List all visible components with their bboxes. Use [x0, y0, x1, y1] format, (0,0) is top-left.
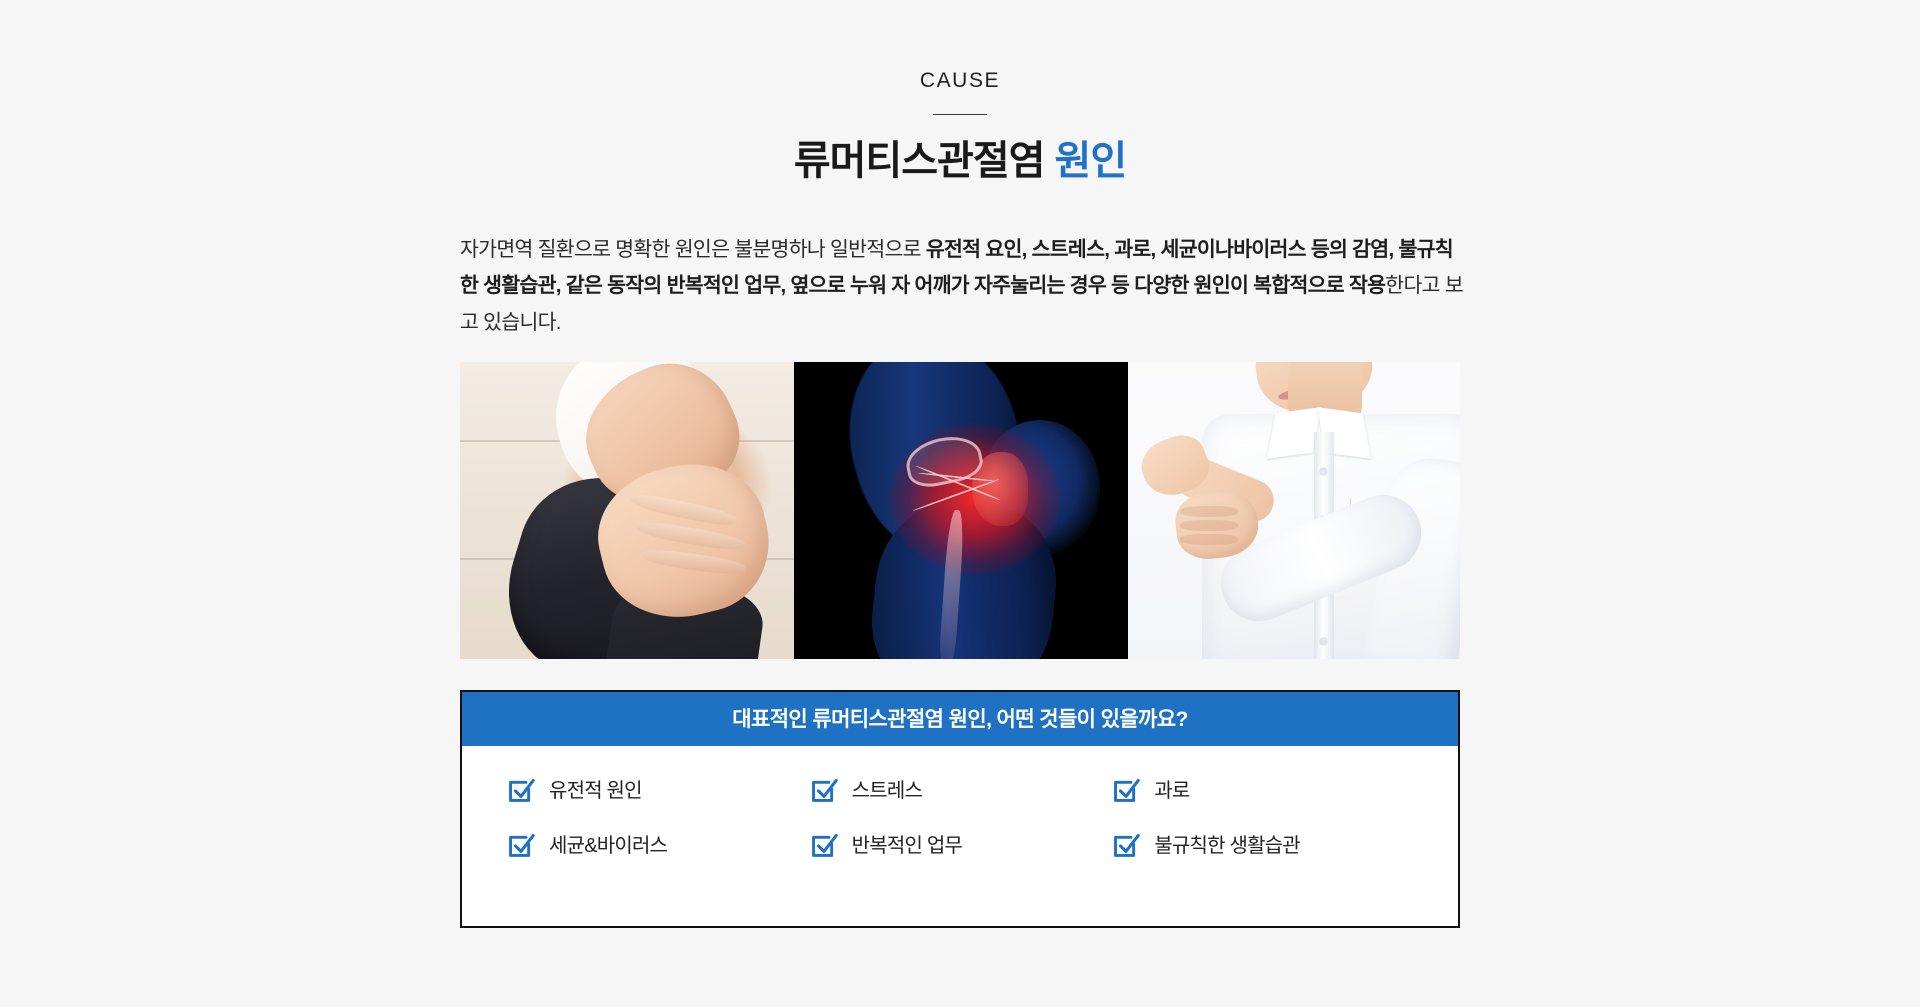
photo-knee-hands	[460, 362, 794, 659]
lead-line1-plain: 자가면역 질환으로 명확한 원인은 불분명하나 일반적으로	[460, 238, 926, 261]
decor-finger	[1180, 534, 1238, 545]
cause-section: CAUSE 류머티스관절염 원인 자가면역 질환으로 명확한 원인은 불분명하나…	[0, 0, 1920, 1007]
list-item[interactable]: 불규칙한 생활습관	[1111, 831, 1414, 860]
decor-finger	[1180, 520, 1238, 531]
photo-wrist-pain	[1128, 362, 1460, 659]
list-item[interactable]: 반복적인 업무	[809, 831, 1112, 860]
causes-box-header: 대표적인 류머티스관절염 원인, 어떤 것들이 있을까요?	[462, 692, 1458, 746]
causes-checklist: 유전적 원인 스트레스	[506, 776, 1414, 860]
eyebrow-label: CAUSE	[920, 70, 1000, 91]
page-title-main: 류머티스관절염	[794, 139, 1055, 183]
list-item[interactable]: 과로	[1111, 776, 1414, 805]
list-item-label: 세균&바이러스	[549, 836, 667, 856]
photo-strip	[460, 362, 1460, 659]
list-item-label: 유전적 원인	[549, 781, 642, 801]
list-item-label: 과로	[1154, 781, 1189, 801]
list-item-label: 반복적인 업무	[852, 836, 962, 856]
lead-line1-bold: 유전적 요인, 스트레스, 과로, 세균이나	[926, 238, 1233, 261]
page-title: 류머티스관절염 원인	[0, 137, 1920, 185]
causes-box-title: 대표적인 류머티스관절염 원인, 어떤 것들이 있을까요?	[732, 709, 1187, 730]
causes-box: 대표적인 류머티스관절염 원인, 어떤 것들이 있을까요? 유전적 원인	[460, 690, 1460, 928]
lead-line3-bold: 눌리는 경우 등 다양한 원인이 복합적으로 작용	[1010, 274, 1385, 297]
checkbox-checked-icon	[809, 831, 838, 860]
page-title-accent: 원인	[1055, 139, 1127, 183]
checkbox-checked-icon	[1111, 831, 1140, 860]
checkbox-checked-icon	[506, 776, 535, 805]
list-item[interactable]: 세균&바이러스	[506, 831, 809, 860]
decor-finger	[1180, 506, 1238, 517]
decor-button	[1320, 638, 1327, 645]
checkbox-checked-icon	[506, 831, 535, 860]
list-item-label: 스트레스	[852, 781, 922, 801]
checkbox-checked-icon	[809, 776, 838, 805]
eyebrow-divider	[933, 114, 987, 115]
section-eyebrow: CAUSE	[0, 70, 1920, 115]
causes-box-body: 유전적 원인 스트레스	[462, 746, 1458, 926]
photo-knee-anatomy	[794, 362, 1128, 659]
decor-button	[1320, 468, 1327, 475]
lead-paragraph: 자가면역 질환으로 명확한 원인은 불분명하나 일반적으로 유전적 요인, 스트…	[460, 232, 1470, 341]
list-item-label: 불규칙한 생활습관	[1154, 836, 1300, 856]
list-item[interactable]: 스트레스	[809, 776, 1112, 805]
checkbox-checked-icon	[1111, 776, 1140, 805]
decor-collar-left	[1267, 407, 1321, 459]
list-item[interactable]: 유전적 원인	[506, 776, 809, 805]
